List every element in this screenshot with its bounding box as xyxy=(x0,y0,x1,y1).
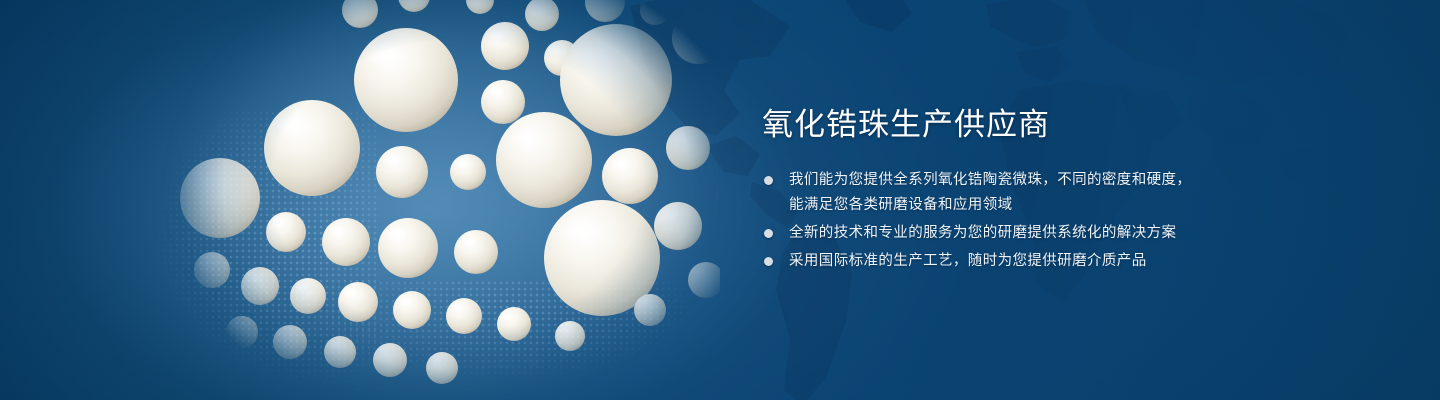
feature-bullet-1: 我们能为您提供全系列氧化锆陶瓷微珠，不同的密度和硬度， 能满足您各类研磨设备和应… xyxy=(762,168,1322,218)
feature-bullet-2: 全新的技术和专业的服务为您的研磨提供系统化的解决方案 xyxy=(762,221,1322,246)
feature-bullet-3-line-1: 采用国际标准的生产工艺，随时为您提供研磨介质产品 xyxy=(789,249,1322,274)
banner-copy: 氧化锆珠生产供应商 我们能为您提供全系列氧化锆陶瓷微珠，不同的密度和硬度， 能满… xyxy=(762,106,1322,277)
bullet-dot-icon xyxy=(764,176,773,185)
bullet-dot-icon xyxy=(764,257,773,266)
bullet-dot-icon xyxy=(764,229,773,238)
hero-banner: 氧化锆珠生产供应商 我们能为您提供全系列氧化锆陶瓷微珠，不同的密度和硬度， 能满… xyxy=(0,0,1440,400)
feature-bullet-1-line-1: 我们能为您提供全系列氧化锆陶瓷微珠，不同的密度和硬度， xyxy=(789,168,1322,193)
feature-bullet-2-line-1: 全新的技术和专业的服务为您的研磨提供系统化的解决方案 xyxy=(789,221,1322,246)
feature-bullet-1-line-2: 能满足您各类研磨设备和应用领域 xyxy=(789,193,1322,218)
banner-headline: 氧化锆珠生产供应商 xyxy=(762,106,1322,144)
feature-bullet-list: 我们能为您提供全系列氧化锆陶瓷微珠，不同的密度和硬度， 能满足您各类研磨设备和应… xyxy=(762,168,1322,274)
feature-bullet-3: 采用国际标准的生产工艺，随时为您提供研磨介质产品 xyxy=(762,249,1322,274)
zirconia-beads-photo xyxy=(150,0,720,400)
